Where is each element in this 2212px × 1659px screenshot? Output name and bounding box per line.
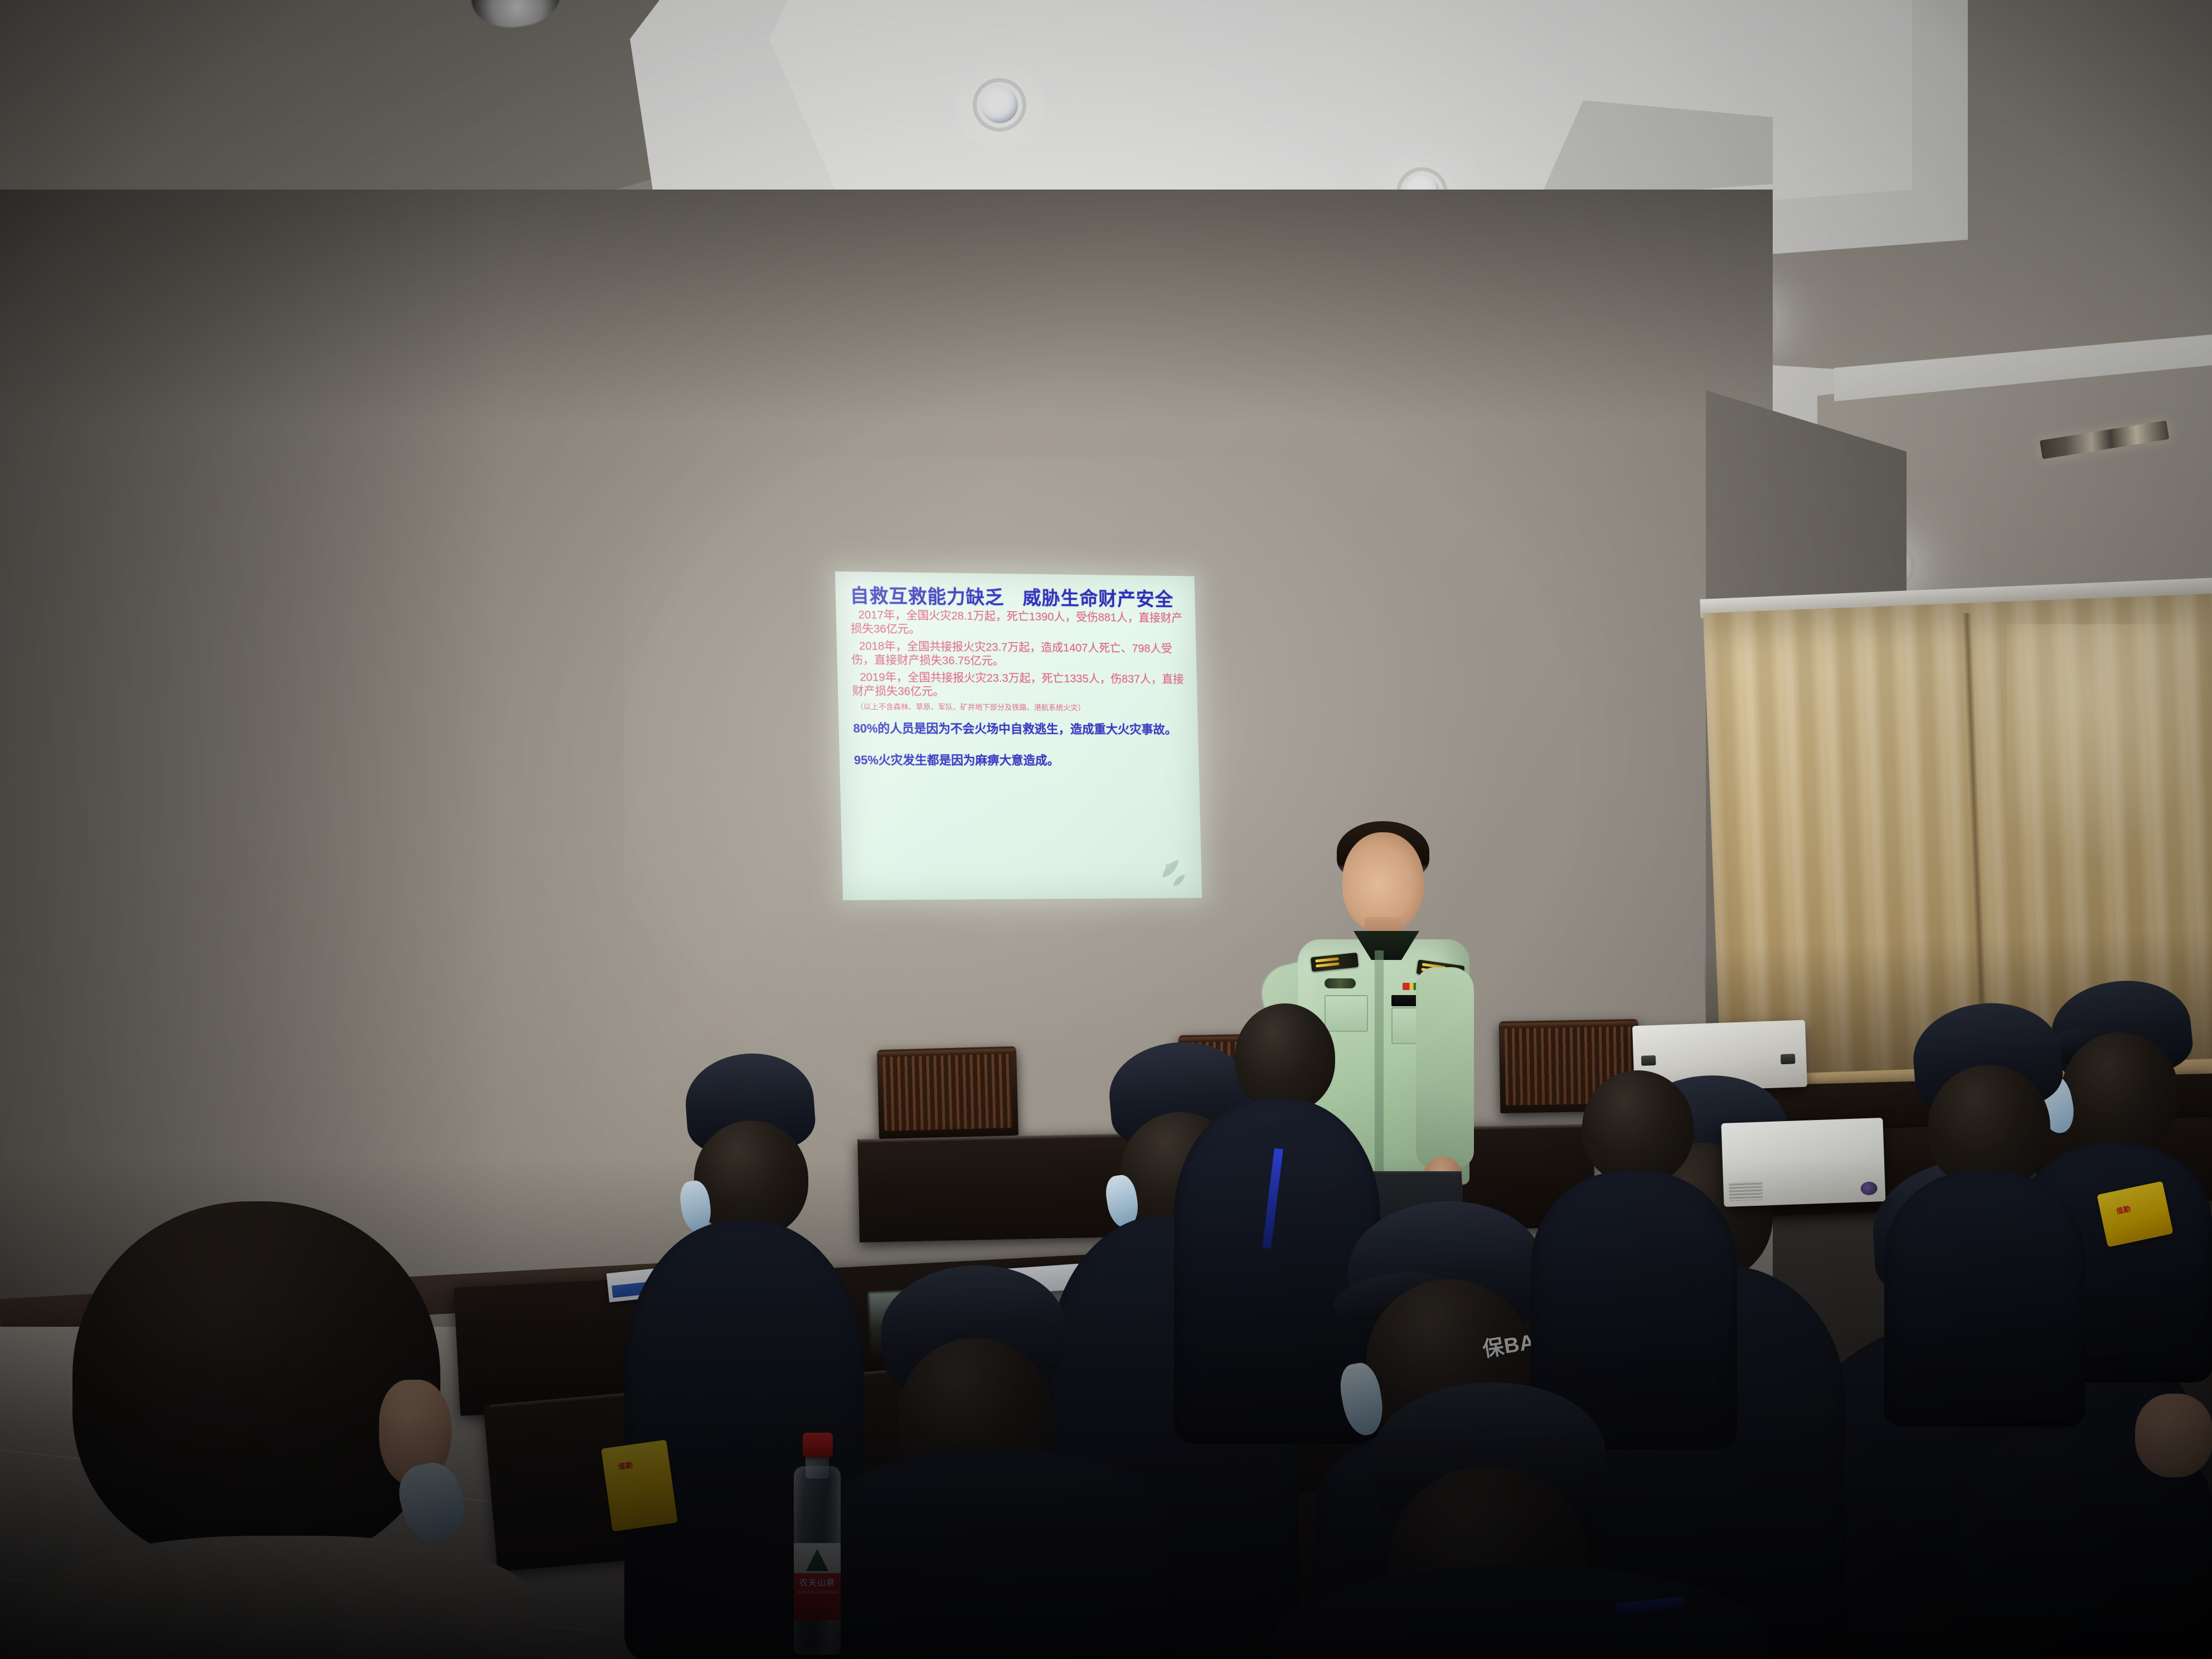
- presentation-slide: 自救互救能力缺乏威胁生命财产安全 2017年，全国火灾28.1万起，死亡1390…: [835, 571, 1202, 900]
- armband-text: 值勤: [2116, 1205, 2131, 1215]
- bottle-cap[interactable]: [803, 1433, 833, 1457]
- slide-stat-2017: 2017年，全国火灾28.1万起，死亡1390人，受伤881人，直接财产损失36…: [850, 608, 1184, 639]
- person-beige-shirt: [33, 1536, 535, 1659]
- audience-member-foreground-center[interactable]: [1271, 1382, 1773, 1659]
- slide-stat-2018: 2018年，全国共接报火灾23.7万起，造成1407人死亡、798人受伤，直接财…: [851, 639, 1185, 670]
- guard-body: [1884, 1171, 2085, 1427]
- person-hand: [2135, 1394, 2212, 1477]
- audience-member-left-2[interactable]: [819, 1265, 1176, 1659]
- ceiling-downlight-1: [981, 86, 1018, 123]
- guard-head: [1582, 1070, 1694, 1185]
- presenter-chest-emblem-icon: [1325, 978, 1356, 988]
- epaulette-stripe: [1316, 962, 1339, 967]
- projector-device[interactable]: [1721, 1118, 1885, 1207]
- presenter-right-arm: [1416, 967, 1474, 1168]
- bottle-brand-en: NONGFU SPRING: [790, 1590, 844, 1595]
- audience-member-bottom-right[interactable]: [1951, 1394, 2212, 1659]
- slide-highlight-80: 80%的人员是因为不会火场中自救逃生，造成重大火灾事故。: [853, 721, 1186, 738]
- guard-head: [694, 1120, 808, 1238]
- projector-lens-icon: [1860, 1181, 1878, 1195]
- chair-slats: [882, 1053, 1012, 1131]
- audience-member-right-2[interactable]: [1884, 1003, 2085, 1427]
- slide-statistics-list: 2017年，全国火灾28.1万起，死亡1390人，受伤881人，直接财产损失36…: [850, 608, 1185, 700]
- projection-screen[interactable]: 自救互救能力缺乏威胁生命财产安全 2017年，全国火灾28.1万起，死亡1390…: [835, 571, 1202, 900]
- guard-body: [819, 1449, 1176, 1659]
- slide-footnote: （以上不含森林、草原、军队、矿井地下部分及铁路、港航系统火灾）: [852, 702, 1186, 713]
- audience-member-foreground-left[interactable]: [33, 1201, 535, 1659]
- slide-highlight-95: 95%火灾发生都是因为麻痹大意造成。: [854, 753, 1187, 769]
- water-bottle[interactable]: 农夫山泉 NONGFU SPRING: [790, 1433, 844, 1656]
- slide-stat-2019: 2019年，全国共接报火灾23.3万起，死亡1335人，伤837人，直接财产损失…: [852, 671, 1186, 701]
- guard-head: [1235, 1003, 1335, 1112]
- bottle-brand-cn: 农夫山泉: [790, 1576, 844, 1588]
- duty-armband: 值勤: [601, 1440, 678, 1532]
- leaf-watermark-icon: [1153, 849, 1194, 890]
- meeting-room-scene: 自救互救能力缺乏威胁生命财产安全 2017年，全国火灾28.1万起，死亡1390…: [0, 0, 2212, 1659]
- wall-left-shadow: [0, 190, 502, 1338]
- chair-back-left[interactable]: [877, 1046, 1018, 1139]
- slide-title: 自救互救能力缺乏威胁生命财产安全: [850, 586, 1183, 610]
- slide-title-left: 自救互救能力缺乏: [850, 585, 1004, 608]
- curtain-light-highlight: [2007, 624, 2208, 858]
- epaulette-stripe: [1315, 957, 1338, 962]
- guard-body: [1271, 1566, 1773, 1659]
- person-head-hair: [72, 1201, 440, 1564]
- slide-title-right: 威胁生命财产安全: [1022, 588, 1174, 610]
- armband-text: 值勤: [618, 1461, 633, 1470]
- case-latch-right[interactable]: [1781, 1054, 1796, 1064]
- projector-vent-icon: [1729, 1181, 1763, 1201]
